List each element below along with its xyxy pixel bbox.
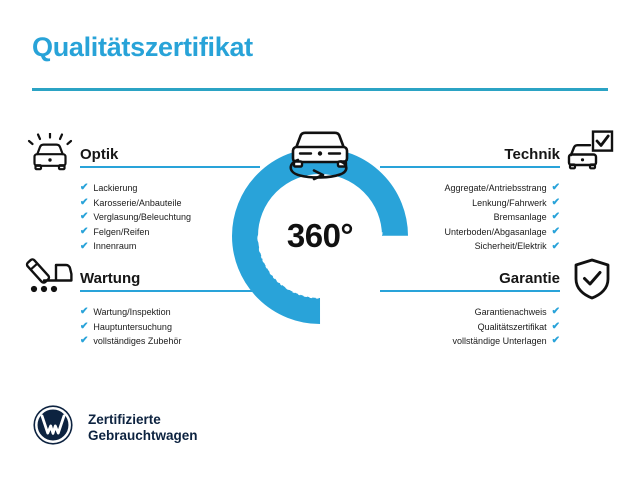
list-item-label: Hauptuntersuchung [93, 320, 172, 335]
footer-brand: Zertifizierte Gebrauchtwagen [32, 404, 198, 451]
list-item-label: Unterboden/Abgasanlage [445, 225, 547, 240]
list-item-label: vollständiges Zubehör [93, 334, 181, 349]
list-item-label: Garantienachweis [475, 305, 547, 320]
check-icon: ✔ [552, 242, 560, 252]
check-icon: ✔ [552, 212, 560, 222]
list-item-label: Lackierung [93, 181, 137, 196]
check-icon: ✔ [80, 322, 88, 332]
list-item-label: Felgen/Reifen [93, 225, 149, 240]
car-rotate-360-icon [278, 122, 362, 182]
page-title: Qualitätszertifikat [32, 32, 253, 63]
list-item: vollständige Unterlagen✔ [380, 334, 560, 349]
list-item-label: Karosserie/Anbauteile [93, 196, 181, 211]
list-item-label: Qualitätszertifikat [478, 320, 547, 335]
car-checkbox-icon [566, 130, 614, 172]
list-item-label: Lenkung/Fahrwerk [472, 196, 547, 211]
list-item-label: Aggregate/Antriebsstrang [445, 181, 547, 196]
list-item-label: Wartung/Inspektion [93, 305, 170, 320]
check-icon: ✔ [552, 307, 560, 317]
title-divider [32, 88, 608, 91]
check-icon: ✔ [80, 183, 88, 193]
car-shine-icon [26, 133, 74, 173]
list-item-label: Sicherheit/Elektrik [475, 239, 547, 254]
check-icon: ✔ [80, 227, 88, 237]
list-item: ✔vollständiges Zubehör [80, 334, 260, 349]
list-item-label: vollständige Unterlagen [453, 334, 547, 349]
check-icon: ✔ [552, 227, 560, 237]
wrench-car-icon [24, 255, 74, 297]
list-item-label: Verglasung/Beleuchtung [93, 210, 191, 225]
shield-check-icon [572, 258, 612, 300]
check-icon: ✔ [80, 307, 88, 317]
check-icon: ✔ [80, 198, 88, 208]
check-icon: ✔ [80, 242, 88, 252]
list-item-label: Bremsanlage [494, 210, 547, 225]
check-icon: ✔ [552, 336, 560, 346]
check-icon: ✔ [80, 336, 88, 346]
check-icon: ✔ [80, 212, 88, 222]
check-icon: ✔ [552, 198, 560, 208]
list-item-label: Innenraum [93, 239, 136, 254]
vw-logo-icon [32, 404, 74, 451]
check-icon: ✔ [552, 322, 560, 332]
check-icon: ✔ [552, 183, 560, 193]
brand-label: Zertifizierte Gebrauchtwagen [88, 412, 198, 444]
